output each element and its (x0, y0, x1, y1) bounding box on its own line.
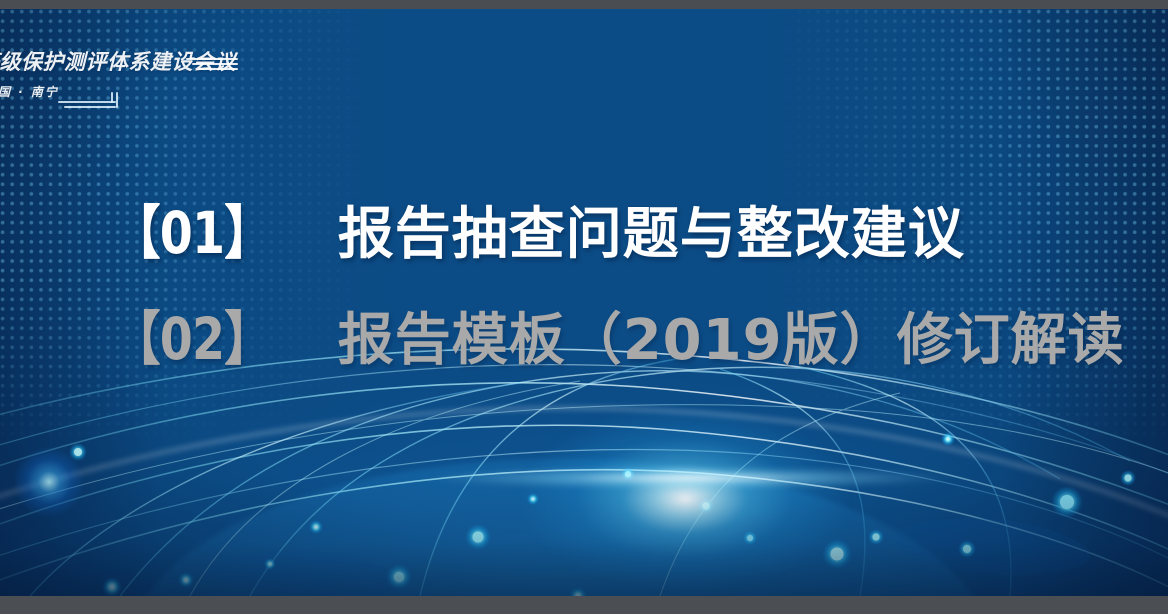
letterbox-top-bar (0, 0, 1168, 9)
agenda-item-02[interactable]: 【02】 报告模板（2019版）修订解读 (113, 310, 1125, 369)
agenda-item-02-number: 【02】 (113, 310, 271, 368)
agenda-list: 【01】 报告抽查问题与整改建议 【02】 报告模板（2019版）修订解读 (0, 0, 1168, 614)
letterbox-bottom-bar (0, 596, 1168, 614)
agenda-item-01-number: 【01】 (113, 204, 271, 262)
agenda-item-02-label: 报告模板（2019版）修订解读 (338, 313, 1125, 369)
agenda-item-01-label: 报告抽查问题与整改建议 (338, 207, 965, 263)
presentation-slide: 等级保护测评体系建设会议 中国 · 南宁 【01】 报告抽查问题与整改建议 【0… (0, 0, 1168, 614)
agenda-item-01[interactable]: 【01】 报告抽查问题与整改建议 (113, 204, 965, 263)
